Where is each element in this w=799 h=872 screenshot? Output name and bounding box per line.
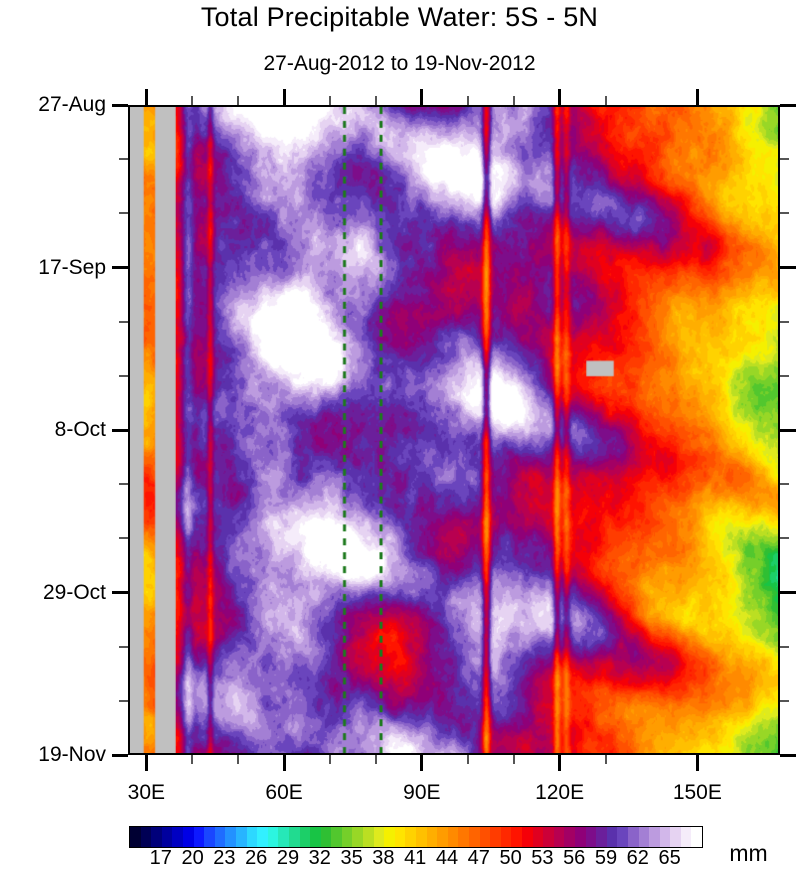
x-axis-label: 60E bbox=[265, 781, 302, 805]
y-minor-tick-left bbox=[119, 537, 128, 539]
x-minor-tick-top bbox=[467, 96, 469, 105]
y-major-tick-left bbox=[112, 429, 128, 432]
y-minor-tick-right bbox=[780, 537, 789, 539]
colorbar-swatch bbox=[681, 827, 692, 847]
x-axis-label: 30E bbox=[128, 781, 165, 805]
x-minor-tick-top bbox=[329, 96, 331, 105]
colorbar-swatch bbox=[533, 827, 544, 847]
x-minor-tick-top bbox=[513, 96, 515, 105]
colorbar-swatch bbox=[363, 827, 374, 847]
colorbar-swatch bbox=[469, 827, 480, 847]
colorbar-tick-label: 56 bbox=[563, 847, 585, 870]
colorbar-swatch bbox=[660, 827, 671, 847]
y-major-tick-right bbox=[780, 591, 796, 594]
x-axis-label: 150E bbox=[673, 781, 722, 805]
hovmoller-plot-area bbox=[128, 105, 780, 755]
colorbar-tick-label: 38 bbox=[372, 847, 394, 870]
y-minor-tick-right bbox=[780, 321, 789, 323]
x-major-tick-top bbox=[558, 89, 561, 105]
colorbar-swatch bbox=[458, 827, 469, 847]
x-minor-tick-top bbox=[375, 96, 377, 105]
colorbar-tick-label: 65 bbox=[658, 847, 680, 870]
y-minor-tick-right bbox=[780, 483, 789, 485]
colorbar-swatch bbox=[691, 827, 702, 847]
colorbar-swatch bbox=[342, 827, 353, 847]
x-major-tick-bottom bbox=[420, 755, 423, 771]
x-minor-tick-bottom bbox=[513, 755, 515, 764]
colorbar-swatch bbox=[543, 827, 554, 847]
x-major-tick-bottom bbox=[696, 755, 699, 771]
colorbar-swatch bbox=[617, 827, 628, 847]
y-minor-tick-left bbox=[119, 483, 128, 485]
x-major-tick-top bbox=[420, 89, 423, 105]
colorbar-swatch bbox=[236, 827, 247, 847]
y-major-tick-left bbox=[112, 104, 128, 107]
y-axis-label: 27-Aug bbox=[38, 93, 106, 117]
colorbar-swatch bbox=[607, 827, 618, 847]
x-minor-tick-bottom bbox=[605, 755, 607, 764]
x-major-tick-top bbox=[696, 89, 699, 105]
colorbar-swatch bbox=[215, 827, 226, 847]
y-minor-tick-right bbox=[780, 375, 789, 377]
colorbar-swatch bbox=[300, 827, 311, 847]
colorbar-swatch bbox=[278, 827, 289, 847]
colorbar-tick-label: 41 bbox=[404, 847, 426, 870]
colorbar-tick-label: 53 bbox=[531, 847, 553, 870]
colorbar-swatch bbox=[204, 827, 215, 847]
y-axis-label: 29-Oct bbox=[43, 581, 106, 605]
colorbar-swatch bbox=[448, 827, 459, 847]
y-minor-tick-left bbox=[119, 646, 128, 648]
colorbar-tick-label: 20 bbox=[181, 847, 203, 870]
colorbar-swatch bbox=[628, 827, 639, 847]
x-major-tick-bottom bbox=[558, 755, 561, 771]
colorbar-swatch bbox=[490, 827, 501, 847]
colorbar-swatch bbox=[257, 827, 268, 847]
x-axis-label: 120E bbox=[535, 781, 584, 805]
x-axis-label: 90E bbox=[403, 781, 440, 805]
x-minor-tick-bottom bbox=[375, 755, 377, 764]
colorbar-unit-label: mm bbox=[729, 840, 767, 867]
colorbar-swatch bbox=[395, 827, 406, 847]
colorbar-tick-label: 47 bbox=[468, 847, 490, 870]
x-minor-tick-top bbox=[191, 96, 193, 105]
y-major-tick-right bbox=[780, 104, 796, 107]
colorbar-swatch bbox=[194, 827, 205, 847]
x-minor-tick-top bbox=[605, 96, 607, 105]
colorbar-swatch bbox=[501, 827, 512, 847]
y-axis-label: 8-Oct bbox=[55, 418, 106, 442]
colorbar-swatch bbox=[183, 827, 194, 847]
colorbar bbox=[129, 826, 703, 848]
colorbar-tick-label: 62 bbox=[627, 847, 649, 870]
y-major-tick-right bbox=[780, 266, 796, 269]
y-minor-tick-right bbox=[780, 646, 789, 648]
colorbar-tick-label: 29 bbox=[277, 847, 299, 870]
colorbar-tick-label: 32 bbox=[309, 847, 331, 870]
x-major-tick-top bbox=[283, 89, 286, 105]
colorbar-swatch bbox=[596, 827, 607, 847]
y-minor-tick-right bbox=[780, 158, 789, 160]
colorbar-tick-label: 50 bbox=[499, 847, 521, 870]
colorbar-swatch bbox=[289, 827, 300, 847]
y-major-tick-left bbox=[112, 754, 128, 757]
colorbar-swatch bbox=[564, 827, 575, 847]
colorbar-swatch bbox=[649, 827, 660, 847]
colorbar-swatch bbox=[268, 827, 279, 847]
colorbar-swatch bbox=[151, 827, 162, 847]
y-major-tick-right bbox=[780, 754, 796, 757]
x-minor-tick-bottom bbox=[329, 755, 331, 764]
y-minor-tick-right bbox=[780, 700, 789, 702]
y-minor-tick-left bbox=[119, 158, 128, 160]
colorbar-tick-label: 23 bbox=[213, 847, 235, 870]
colorbar-tick-label: 26 bbox=[245, 847, 267, 870]
colorbar-swatch bbox=[247, 827, 258, 847]
x-major-tick-bottom bbox=[283, 755, 286, 771]
x-minor-tick-bottom bbox=[467, 755, 469, 764]
colorbar-swatch bbox=[480, 827, 491, 847]
x-minor-tick-top bbox=[237, 96, 239, 105]
colorbar-tick-label: 59 bbox=[595, 847, 617, 870]
y-minor-tick-left bbox=[119, 700, 128, 702]
colorbar-swatch bbox=[352, 827, 363, 847]
colorbar-swatch bbox=[416, 827, 427, 847]
y-minor-tick-left bbox=[119, 212, 128, 214]
y-axis-label: 17-Sep bbox=[38, 256, 106, 280]
x-major-tick-top bbox=[145, 89, 148, 105]
colorbar-swatch bbox=[130, 827, 141, 847]
page-subtitle: 27-Aug-2012 to 19-Nov-2012 bbox=[0, 52, 799, 76]
colorbar-swatch bbox=[384, 827, 395, 847]
colorbar-tick-label: 17 bbox=[150, 847, 172, 870]
colorbar-tick-label: 44 bbox=[436, 847, 458, 870]
colorbar-swatch bbox=[670, 827, 681, 847]
y-major-tick-right bbox=[780, 429, 796, 432]
colorbar-swatch bbox=[172, 827, 183, 847]
y-minor-tick-left bbox=[119, 321, 128, 323]
colorbar-swatch bbox=[639, 827, 650, 847]
colorbar-swatch bbox=[374, 827, 385, 847]
colorbar-swatch bbox=[511, 827, 522, 847]
precipitable-water-field bbox=[130, 107, 778, 753]
colorbar-swatch bbox=[427, 827, 438, 847]
page-title: Total Precipitable Water: 5S - 5N bbox=[0, 2, 799, 33]
y-major-tick-left bbox=[112, 266, 128, 269]
colorbar-swatch bbox=[321, 827, 332, 847]
x-major-tick-bottom bbox=[145, 755, 148, 771]
colorbar-swatch bbox=[141, 827, 152, 847]
colorbar-swatch bbox=[162, 827, 173, 847]
x-minor-tick-bottom bbox=[191, 755, 193, 764]
colorbar-tick-label: 35 bbox=[340, 847, 362, 870]
colorbar-swatch bbox=[405, 827, 416, 847]
x-minor-tick-bottom bbox=[237, 755, 239, 764]
y-minor-tick-left bbox=[119, 375, 128, 377]
y-axis-label: 19-Nov bbox=[38, 743, 106, 767]
colorbar-swatch bbox=[225, 827, 236, 847]
colorbar-swatch bbox=[586, 827, 597, 847]
colorbar-swatch bbox=[310, 827, 321, 847]
y-major-tick-left bbox=[112, 591, 128, 594]
y-minor-tick-right bbox=[780, 212, 789, 214]
colorbar-swatch bbox=[575, 827, 586, 847]
colorbar-swatch bbox=[437, 827, 448, 847]
colorbar-swatch bbox=[522, 827, 533, 847]
colorbar-swatch bbox=[554, 827, 565, 847]
colorbar-swatch bbox=[331, 827, 342, 847]
